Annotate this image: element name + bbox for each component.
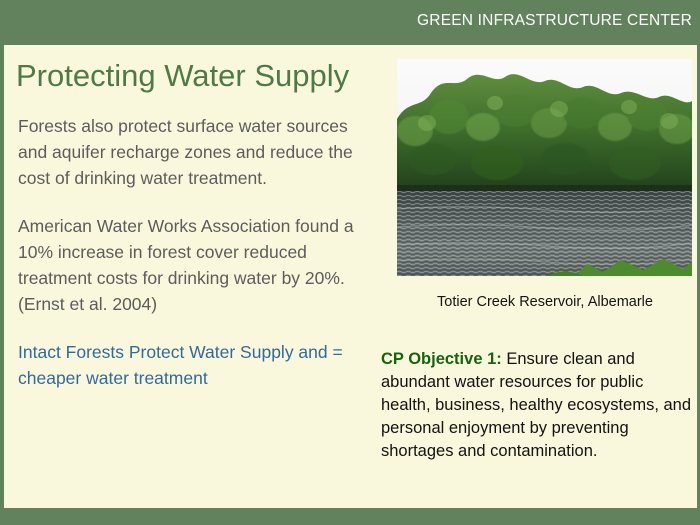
left-accent-stripe [0,45,4,508]
body-paragraph-1: Forests also protect surface water sourc… [18,113,358,191]
organization-title: GREEN INFRASTRUCTURE CENTER [417,12,692,30]
slide-title: Protecting Water Supply [16,58,349,94]
reservoir-photo-image [397,59,692,276]
objective-block: CP Objective 1: Ensure clean and abundan… [381,348,691,463]
footer-band [0,508,700,525]
left-content-column: Forests also protect surface water sourc… [18,113,358,391]
photo-caption: Totier Creek Reservoir, Albemarle [397,293,693,311]
body-paragraph-2: American Water Works Association found a… [18,213,358,317]
objective-label: CP Objective 1: [381,350,502,368]
presentation-slide: GREEN INFRASTRUCTURE CENTER Protecting W… [0,0,700,525]
highlight-statement: Intact Forests Protect Water Supply and … [18,339,358,391]
reservoir-photo [397,59,692,276]
